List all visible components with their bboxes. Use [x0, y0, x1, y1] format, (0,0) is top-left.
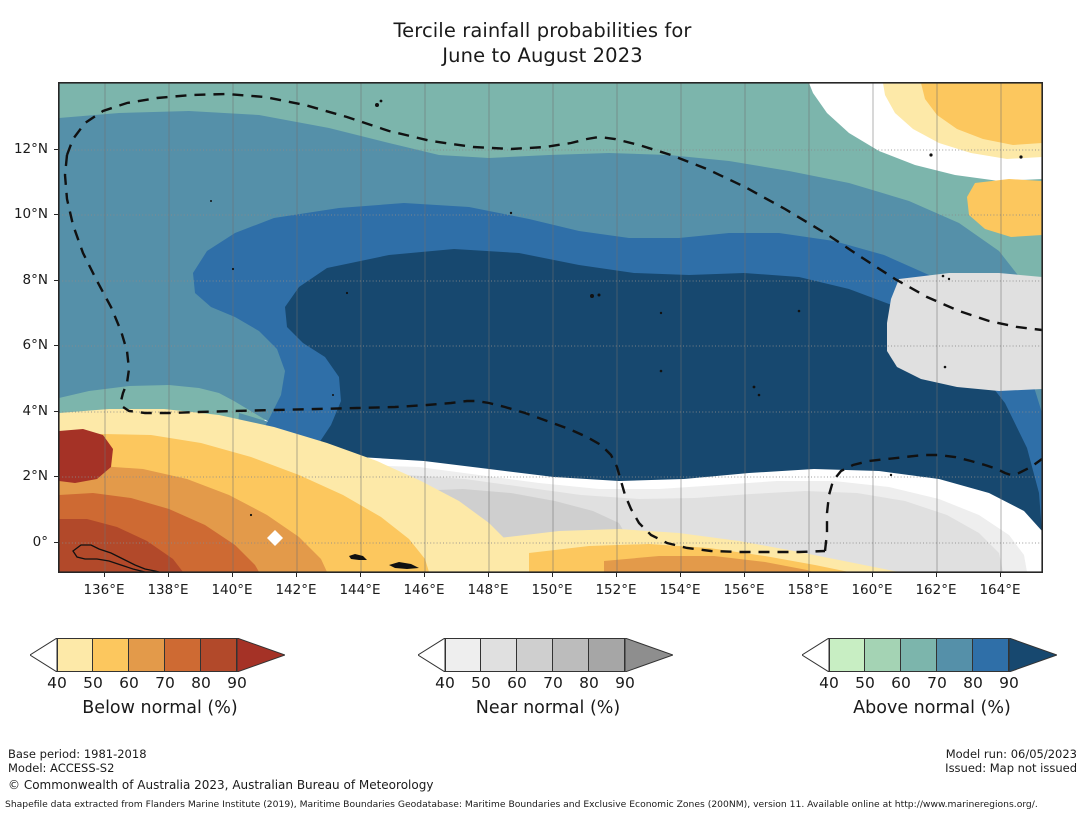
xtick-mark — [680, 573, 681, 577]
legend-tick: 90 — [227, 674, 247, 692]
legend-tick: 70 — [927, 674, 947, 692]
xtick-mark — [168, 573, 169, 577]
legend-swatch — [517, 638, 553, 672]
base-period-text: Base period: 1981-2018 — [8, 748, 433, 762]
xtick-mark — [424, 573, 425, 577]
xtick-mark — [872, 573, 873, 577]
legend-swatch — [129, 638, 165, 672]
page-title: Tercile rainfall probabilities for June … — [0, 18, 1085, 68]
legend-tick: 80 — [191, 674, 211, 692]
xtick-mark — [488, 573, 489, 577]
legend-tick: 60 — [891, 674, 911, 692]
footer-metadata-left: Base period: 1981-2018 Model: ACCESS-S2 … — [8, 748, 433, 793]
issued-text: Issued: Map not issued — [945, 762, 1077, 776]
legend-cap-high — [237, 638, 285, 672]
legend-cap-low — [30, 638, 57, 672]
xtick-mark — [1000, 573, 1001, 577]
xtick-label: 164°E — [940, 582, 1060, 598]
legend-swatch — [901, 638, 937, 672]
xtick-mark — [744, 573, 745, 577]
legend-near-normal: 40 50 60 70 80 90 Near normal (%) — [398, 638, 698, 672]
legend-title: Above normal (%) — [782, 698, 1082, 718]
xtick-mark — [808, 573, 809, 577]
legend-swatch — [553, 638, 589, 672]
legend-tick-labels: 40 50 60 70 80 90 — [10, 674, 310, 694]
ytick-label: 0° — [0, 534, 48, 550]
legend-tick: 50 — [471, 674, 491, 692]
contour-near-ne — [887, 273, 1042, 391]
ytick-mark — [54, 476, 58, 477]
footer-metadata-right: Model run: 06/05/2023 Issued: Map not is… — [945, 748, 1077, 775]
legend-tick: 90 — [999, 674, 1019, 692]
ytick-label: 12°N — [0, 141, 48, 157]
legend-swatch — [829, 638, 865, 672]
legend-tick: 90 — [615, 674, 635, 692]
legend-cap-high — [625, 638, 673, 672]
legend-tick: 40 — [819, 674, 839, 692]
legend-swatch — [445, 638, 481, 672]
legend-swatch — [589, 638, 625, 672]
legend-tick: 80 — [579, 674, 599, 692]
ytick-label: 2°N — [0, 468, 48, 484]
rainfall-probability-map — [58, 82, 1043, 573]
ytick-label: 10°N — [0, 206, 48, 222]
legend-swatch — [57, 638, 93, 672]
ytick-label: 6°N — [0, 337, 48, 353]
legend-swatch — [93, 638, 129, 672]
shapefile-attribution-text: Shapefile data extracted from Flanders M… — [5, 799, 1038, 810]
legend-swatch — [201, 638, 237, 672]
ytick-mark — [54, 149, 58, 150]
xtick-mark — [104, 573, 105, 577]
legend-swatches — [445, 638, 625, 672]
legend-swatch — [165, 638, 201, 672]
ytick-mark — [54, 411, 58, 412]
legend-title: Near normal (%) — [398, 698, 698, 718]
legend-tick: 80 — [963, 674, 983, 692]
legend-swatch — [973, 638, 1009, 672]
xtick-mark — [552, 573, 553, 577]
legend-swatches — [829, 638, 1009, 672]
model-run-text: Model run: 06/05/2023 — [945, 748, 1077, 762]
legend-cap-low — [802, 638, 829, 672]
legend-tick-labels: 40 50 60 70 80 90 — [398, 674, 698, 694]
ytick-mark — [54, 542, 58, 543]
copyright-text: © Commonwealth of Australia 2023, Austra… — [8, 779, 433, 793]
legend-tick: 70 — [543, 674, 563, 692]
xtick-mark — [296, 573, 297, 577]
legend-tick: 50 — [855, 674, 875, 692]
legend-swatch — [481, 638, 517, 672]
ytick-label: 8°N — [0, 272, 48, 288]
xtick-mark — [232, 573, 233, 577]
xtick-mark — [616, 573, 617, 577]
legend-below-normal: 40 50 60 70 80 90 Below normal (%) — [10, 638, 310, 672]
legend-title: Below normal (%) — [10, 698, 310, 718]
legend-tick: 40 — [47, 674, 67, 692]
legend-cap-high — [1009, 638, 1057, 672]
legend-tick: 60 — [507, 674, 527, 692]
legend-swatch — [865, 638, 901, 672]
legend-tick-labels: 40 50 60 70 80 90 — [782, 674, 1082, 694]
title-line-1: Tercile rainfall probabilities for — [0, 18, 1085, 43]
legend-tick: 60 — [119, 674, 139, 692]
xtick-mark — [936, 573, 937, 577]
legend-tick: 50 — [83, 674, 103, 692]
ytick-mark — [54, 345, 58, 346]
title-line-2: June to August 2023 — [0, 43, 1085, 68]
legend-swatch — [937, 638, 973, 672]
ytick-mark — [54, 214, 58, 215]
legend-tick: 40 — [435, 674, 455, 692]
legend-tick: 70 — [155, 674, 175, 692]
ytick-label: 4°N — [0, 403, 48, 419]
ytick-mark — [54, 280, 58, 281]
legend-above-normal: 40 50 60 70 80 90 Above normal (%) — [782, 638, 1082, 672]
map-contour-canvas — [59, 83, 1042, 572]
legend-cap-low — [418, 638, 445, 672]
legend-swatches — [57, 638, 237, 672]
model-text: Model: ACCESS-S2 — [8, 762, 433, 776]
xtick-mark — [360, 573, 361, 577]
